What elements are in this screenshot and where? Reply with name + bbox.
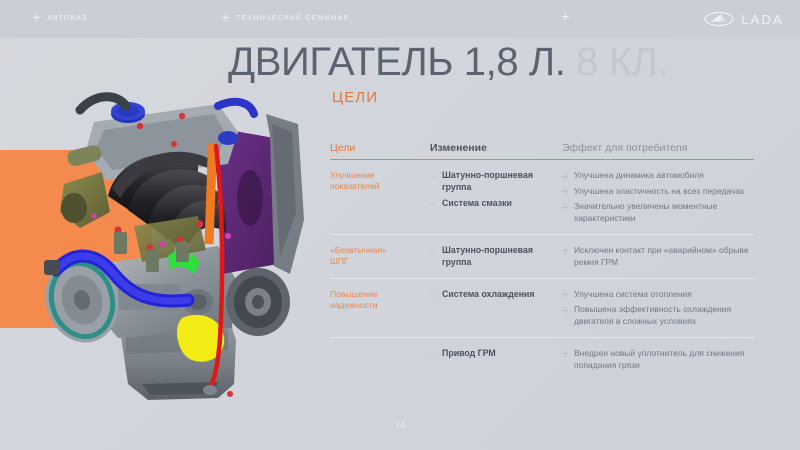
list-item: Система охлаждения — [430, 289, 562, 301]
list-item: Улучшена эластичность на всех передачах — [562, 186, 754, 198]
plus-bullet-icon — [430, 201, 436, 207]
plus-bullet-icon — [430, 292, 436, 298]
plus-bullet-icon — [562, 307, 568, 313]
effect-text: Исключен контакт при «аварийном» обрыве … — [574, 245, 754, 268]
list-item: Система смазки — [430, 198, 562, 210]
list-item: Улучшена динамика автомобиля — [562, 170, 754, 182]
row-goal-label: Улучшениепоказателей — [330, 170, 430, 225]
page-subtitle: ЦЕЛИ — [332, 89, 378, 106]
table-row: Повышениенадежности Система охлаждения У… — [330, 279, 754, 338]
column-header-goal: Цели — [330, 142, 430, 154]
topbar-label-avtovaz: АВТОВАЗ — [47, 13, 87, 22]
effect-text: Внедрен новый уплотнитель для снижения п… — [574, 348, 754, 371]
plus-bullet-icon — [562, 351, 568, 357]
engine-cutaway-image — [22, 88, 312, 408]
change-text: Система смазки — [442, 198, 512, 210]
row-effect-list: Улучшена динамика автомобиля Улучшена эл… — [562, 170, 754, 225]
row-change-list: Шатунно-поршневая группа — [430, 245, 562, 269]
topbar-item-seminar: ТЕХНИЧЕСКИЙ СЕМИНАР — [222, 13, 349, 22]
lada-wordmark: LADA — [741, 12, 784, 27]
row-goal-label: «Безвтычная»ШПГ — [330, 245, 430, 269]
topbar-label-seminar: ТЕХНИЧЕСКИЙ СЕМИНАР — [236, 13, 349, 22]
table-header-row: Цели Изменение Эффект для потребителя — [330, 142, 754, 160]
column-header-effect: Эффект для потребителя — [562, 142, 754, 154]
plus-bullet-icon — [562, 204, 568, 210]
column-header-change: Изменение — [430, 142, 562, 154]
plus-bullet-icon — [562, 173, 568, 179]
topbar-item-marker — [562, 13, 576, 20]
row-change-list: Привод ГРМ — [430, 348, 562, 360]
effect-text: Значительно увеличены моментные характер… — [574, 201, 754, 224]
table-row: Привод ГРМ Внедрен новый уплотнитель для… — [330, 338, 754, 380]
goals-table: Цели Изменение Эффект для потребителя Ул… — [330, 142, 754, 380]
change-text: Шатунно-поршневая группа — [442, 170, 562, 194]
page-title-main: ДВИГАТЕЛЬ 1,8 Л. — [228, 40, 565, 84]
row-goal-label — [330, 348, 430, 371]
plus-icon — [562, 13, 569, 20]
plus-bullet-icon — [562, 292, 568, 298]
slide: АВТОВАЗ ТЕХНИЧЕСКИЙ СЕМИНАР LADA ДВИГАТЕ… — [0, 0, 800, 450]
plus-bullet-icon — [562, 248, 568, 254]
list-item: Внедрен новый уплотнитель для снижения п… — [562, 348, 754, 371]
table-row: «Безвтычная»ШПГ Шатунно-поршневая группа… — [330, 235, 754, 279]
change-text: Шатунно-поршневая группа — [442, 245, 562, 269]
top-bar: АВТОВАЗ ТЕХНИЧЕСКИЙ СЕМИНАР LADA — [0, 0, 800, 38]
effect-text: Улучшена динамика автомобиля — [574, 170, 704, 182]
plus-bullet-icon — [430, 248, 436, 254]
row-change-list: Шатунно-поршневая группа Система смазки — [430, 170, 562, 210]
row-effect-list: Внедрен новый уплотнитель для снижения п… — [562, 348, 754, 371]
list-item: Улучшена система отопления — [562, 289, 754, 301]
list-item: Значительно увеличены моментные характер… — [562, 201, 754, 224]
page-number: 14 — [0, 420, 800, 430]
effect-text: Улучшена эластичность на всех передачах — [574, 186, 744, 198]
list-item: Привод ГРМ — [430, 348, 562, 360]
page-title: ДВИГАТЕЛЬ 1,8 Л. 8 КЛ. — [228, 40, 668, 85]
effect-text: Повышена эффективность охлаждения двигат… — [574, 304, 754, 327]
lada-logo: LADA — [704, 11, 784, 27]
row-effect-list: Улучшена система отопления Повышена эффе… — [562, 289, 754, 328]
list-item: Повышена эффективность охлаждения двигат… — [562, 304, 754, 327]
plus-icon — [33, 14, 40, 21]
change-text: Система охлаждения — [442, 289, 535, 301]
plus-icon — [222, 14, 229, 21]
page-title-dim: 8 КЛ. — [565, 40, 668, 84]
plus-bullet-icon — [430, 351, 436, 357]
topbar-item-avtovaz: АВТОВАЗ — [33, 13, 87, 22]
effect-text: Улучшена система отопления — [574, 289, 692, 301]
plus-bullet-icon — [430, 173, 436, 179]
row-effect-list: Исключен контакт при «аварийном» обрыве … — [562, 245, 754, 268]
row-change-list: Система охлаждения — [430, 289, 562, 301]
change-text: Привод ГРМ — [442, 348, 496, 360]
row-goal-label: Повышениенадежности — [330, 289, 430, 328]
list-item: Шатунно-поршневая группа — [430, 245, 562, 269]
plus-bullet-icon — [562, 189, 568, 195]
table-row: Улучшениепоказателей Шатунно-поршневая г… — [330, 160, 754, 235]
list-item: Исключен контакт при «аварийном» обрыве … — [562, 245, 754, 268]
lada-emblem-icon — [704, 11, 734, 27]
list-item: Шатунно-поршневая группа — [430, 170, 562, 194]
